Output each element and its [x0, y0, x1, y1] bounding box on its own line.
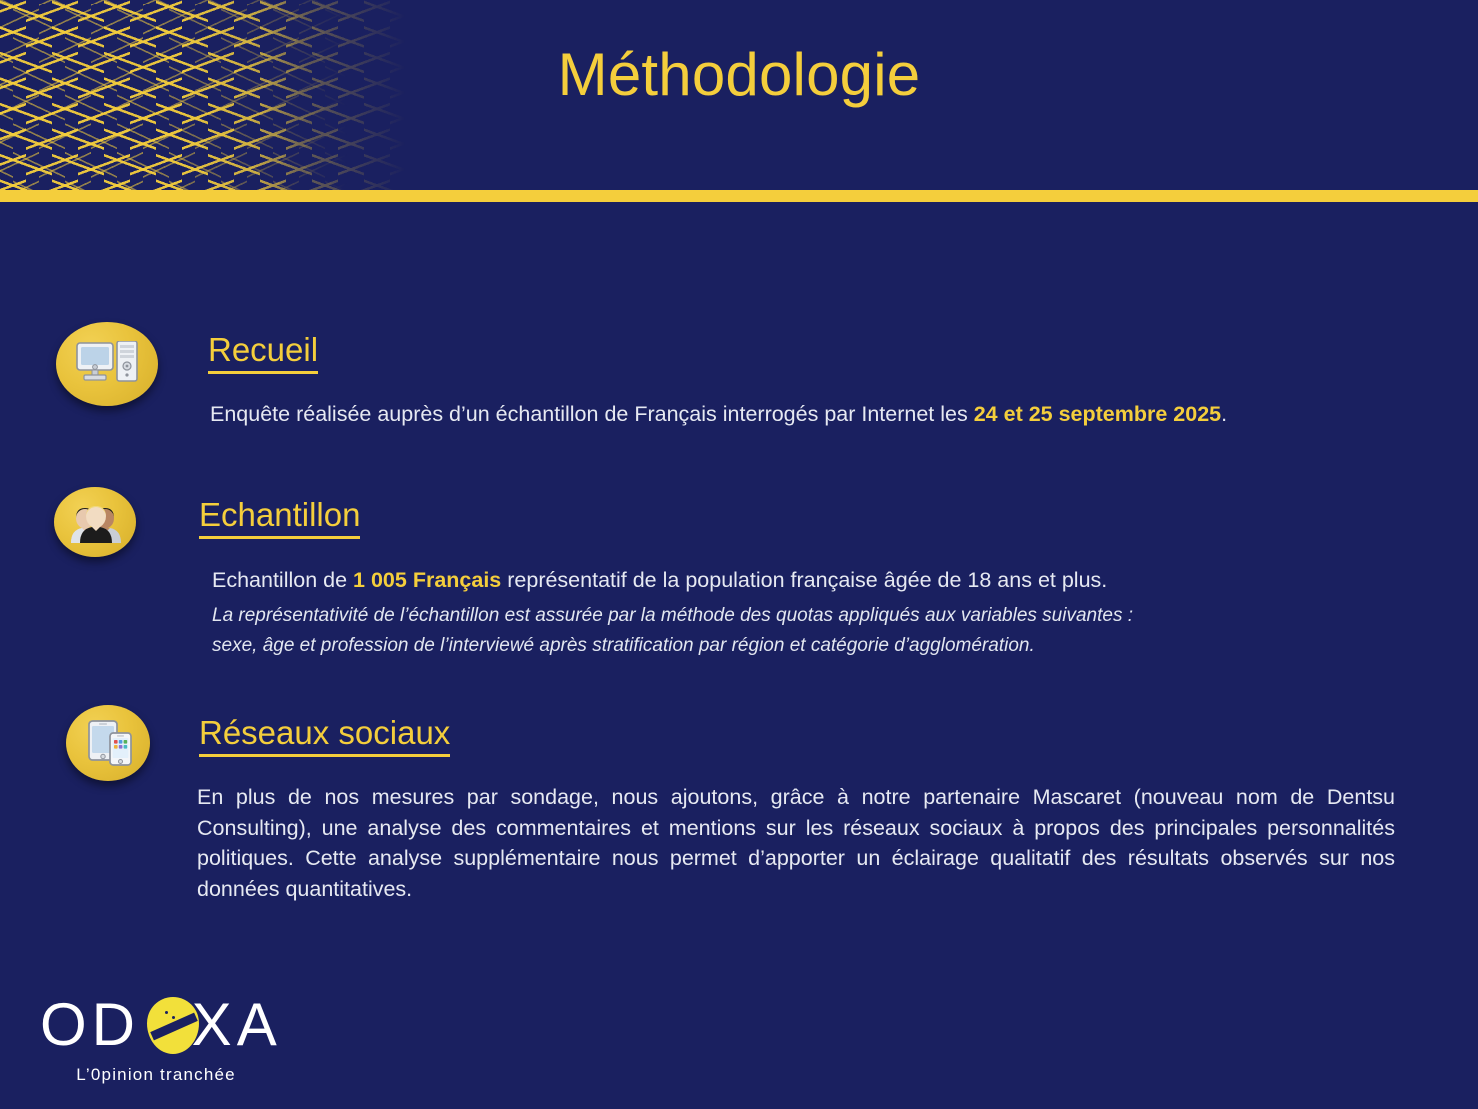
section-heading-reseaux-sociaux: Réseaux sociaux	[199, 713, 450, 757]
page-title: Méthodologie	[0, 42, 1478, 108]
section-heading-label: Réseaux sociaux	[199, 713, 450, 757]
section-heading-recueil: Recueil	[208, 330, 318, 374]
odoxa-tagline: L’0pinion tranchée	[40, 1065, 272, 1085]
odoxa-wordmark: ODOXA	[40, 995, 300, 1057]
odoxa-wordmark-part2: XA	[192, 991, 282, 1058]
section-heading-label: Echantillon	[199, 495, 360, 539]
section-heading-echantillon: Echantillon	[199, 495, 360, 539]
echantillon-note-line-2: sexe, âge et profession de l’interviewé …	[212, 632, 1442, 660]
odoxa-lemon-seed-1	[165, 1011, 168, 1014]
odoxa-wordmark-part1: OD	[40, 991, 140, 1058]
tablet-and-smartphone-icon	[66, 705, 150, 781]
echantillon-body-after: représentatif de la population française…	[501, 568, 1107, 592]
odoxa-logo: ODOXA L’0pinion tranchée	[40, 995, 300, 1095]
group-of-people-icon	[54, 487, 136, 557]
slide-header: Méthodologie	[0, 0, 1478, 190]
recueil-body-after: .	[1221, 402, 1227, 426]
section-heading-label: Recueil	[208, 330, 318, 374]
echantillon-body-before: Echantillon de	[212, 568, 353, 592]
reseaux-sociaux-paragraph: En plus de nos mesures par sondage, nous…	[197, 782, 1395, 904]
echantillon-count-highlight: 1 005 Français	[353, 568, 501, 592]
echantillon-body: Echantillon de 1 005 Français représenta…	[212, 566, 1442, 596]
echantillon-note-line-1: La représentativité de l’échantillon est…	[212, 602, 1442, 630]
desktop-computer-icon	[56, 322, 158, 406]
recueil-body-before: Enquête réalisée auprès d’un échantillon…	[210, 402, 974, 426]
header-divider	[0, 190, 1478, 202]
recueil-date-highlight: 24 et 25 septembre 2025	[974, 402, 1221, 426]
recueil-body: Enquête réalisée auprès d’un échantillon…	[210, 400, 1440, 430]
odoxa-lemon-seed-2	[172, 1016, 175, 1019]
